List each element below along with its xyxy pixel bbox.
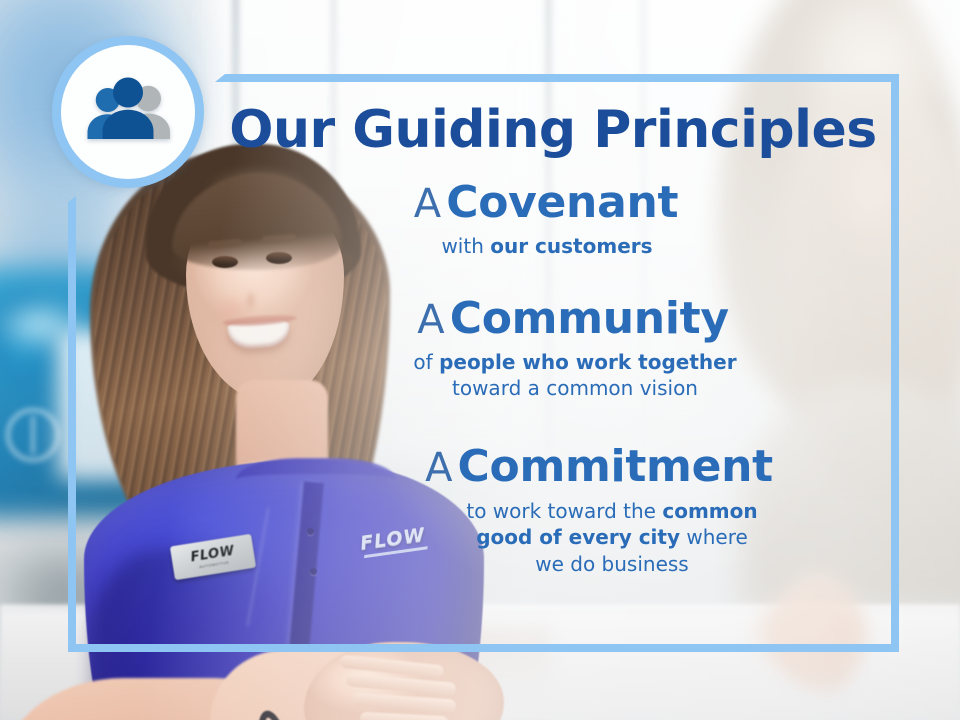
subtitle-bold: people who work together	[439, 350, 737, 374]
principle-subtitle: with our customers	[215, 233, 891, 259]
principle-heading: A Commitment	[215, 444, 891, 490]
principle-article: A	[417, 297, 444, 343]
subtitle-bold: our customers	[490, 234, 652, 258]
text-content: Our Guiding Principles A Covenant with o…	[215, 82, 891, 644]
frame-border-top	[215, 74, 899, 82]
frame-border-bottom	[68, 644, 899, 652]
principle-article: A	[425, 445, 452, 491]
principle-covenant: A Covenant with our customers	[215, 180, 891, 260]
subtitle-light: with	[441, 234, 490, 258]
principle-commitment: A Commitment to work toward the common g…	[215, 444, 891, 577]
frame-border-left	[68, 196, 76, 652]
principle-heading: A Covenant	[215, 180, 891, 226]
frame-border-right	[891, 74, 899, 652]
page-title: Our Guiding Principles	[215, 82, 891, 156]
subtitle-mixed: good of every city where	[476, 525, 748, 549]
principle-subtitle: of people who work together toward a com…	[215, 349, 891, 402]
principle-community: A Community of people who work together …	[215, 296, 891, 402]
group-of-people-icon	[80, 76, 176, 148]
subtitle-light: we do business	[535, 552, 688, 576]
principle-keyword: Covenant	[446, 177, 678, 228]
graphic-canvas: FLOW AUTOMOTIVE FLOW	[0, 0, 960, 720]
people-icon-badge	[52, 36, 204, 188]
principle-keyword: Commitment	[458, 441, 773, 492]
principle-keyword: Community	[450, 293, 729, 344]
subtitle-light: toward a common vision	[452, 376, 698, 400]
principle-heading: A Community	[215, 296, 891, 342]
principle-article: A	[414, 181, 441, 227]
subtitle-light: of	[413, 350, 439, 374]
principle-subtitle: to work toward the common good of every …	[215, 498, 891, 577]
